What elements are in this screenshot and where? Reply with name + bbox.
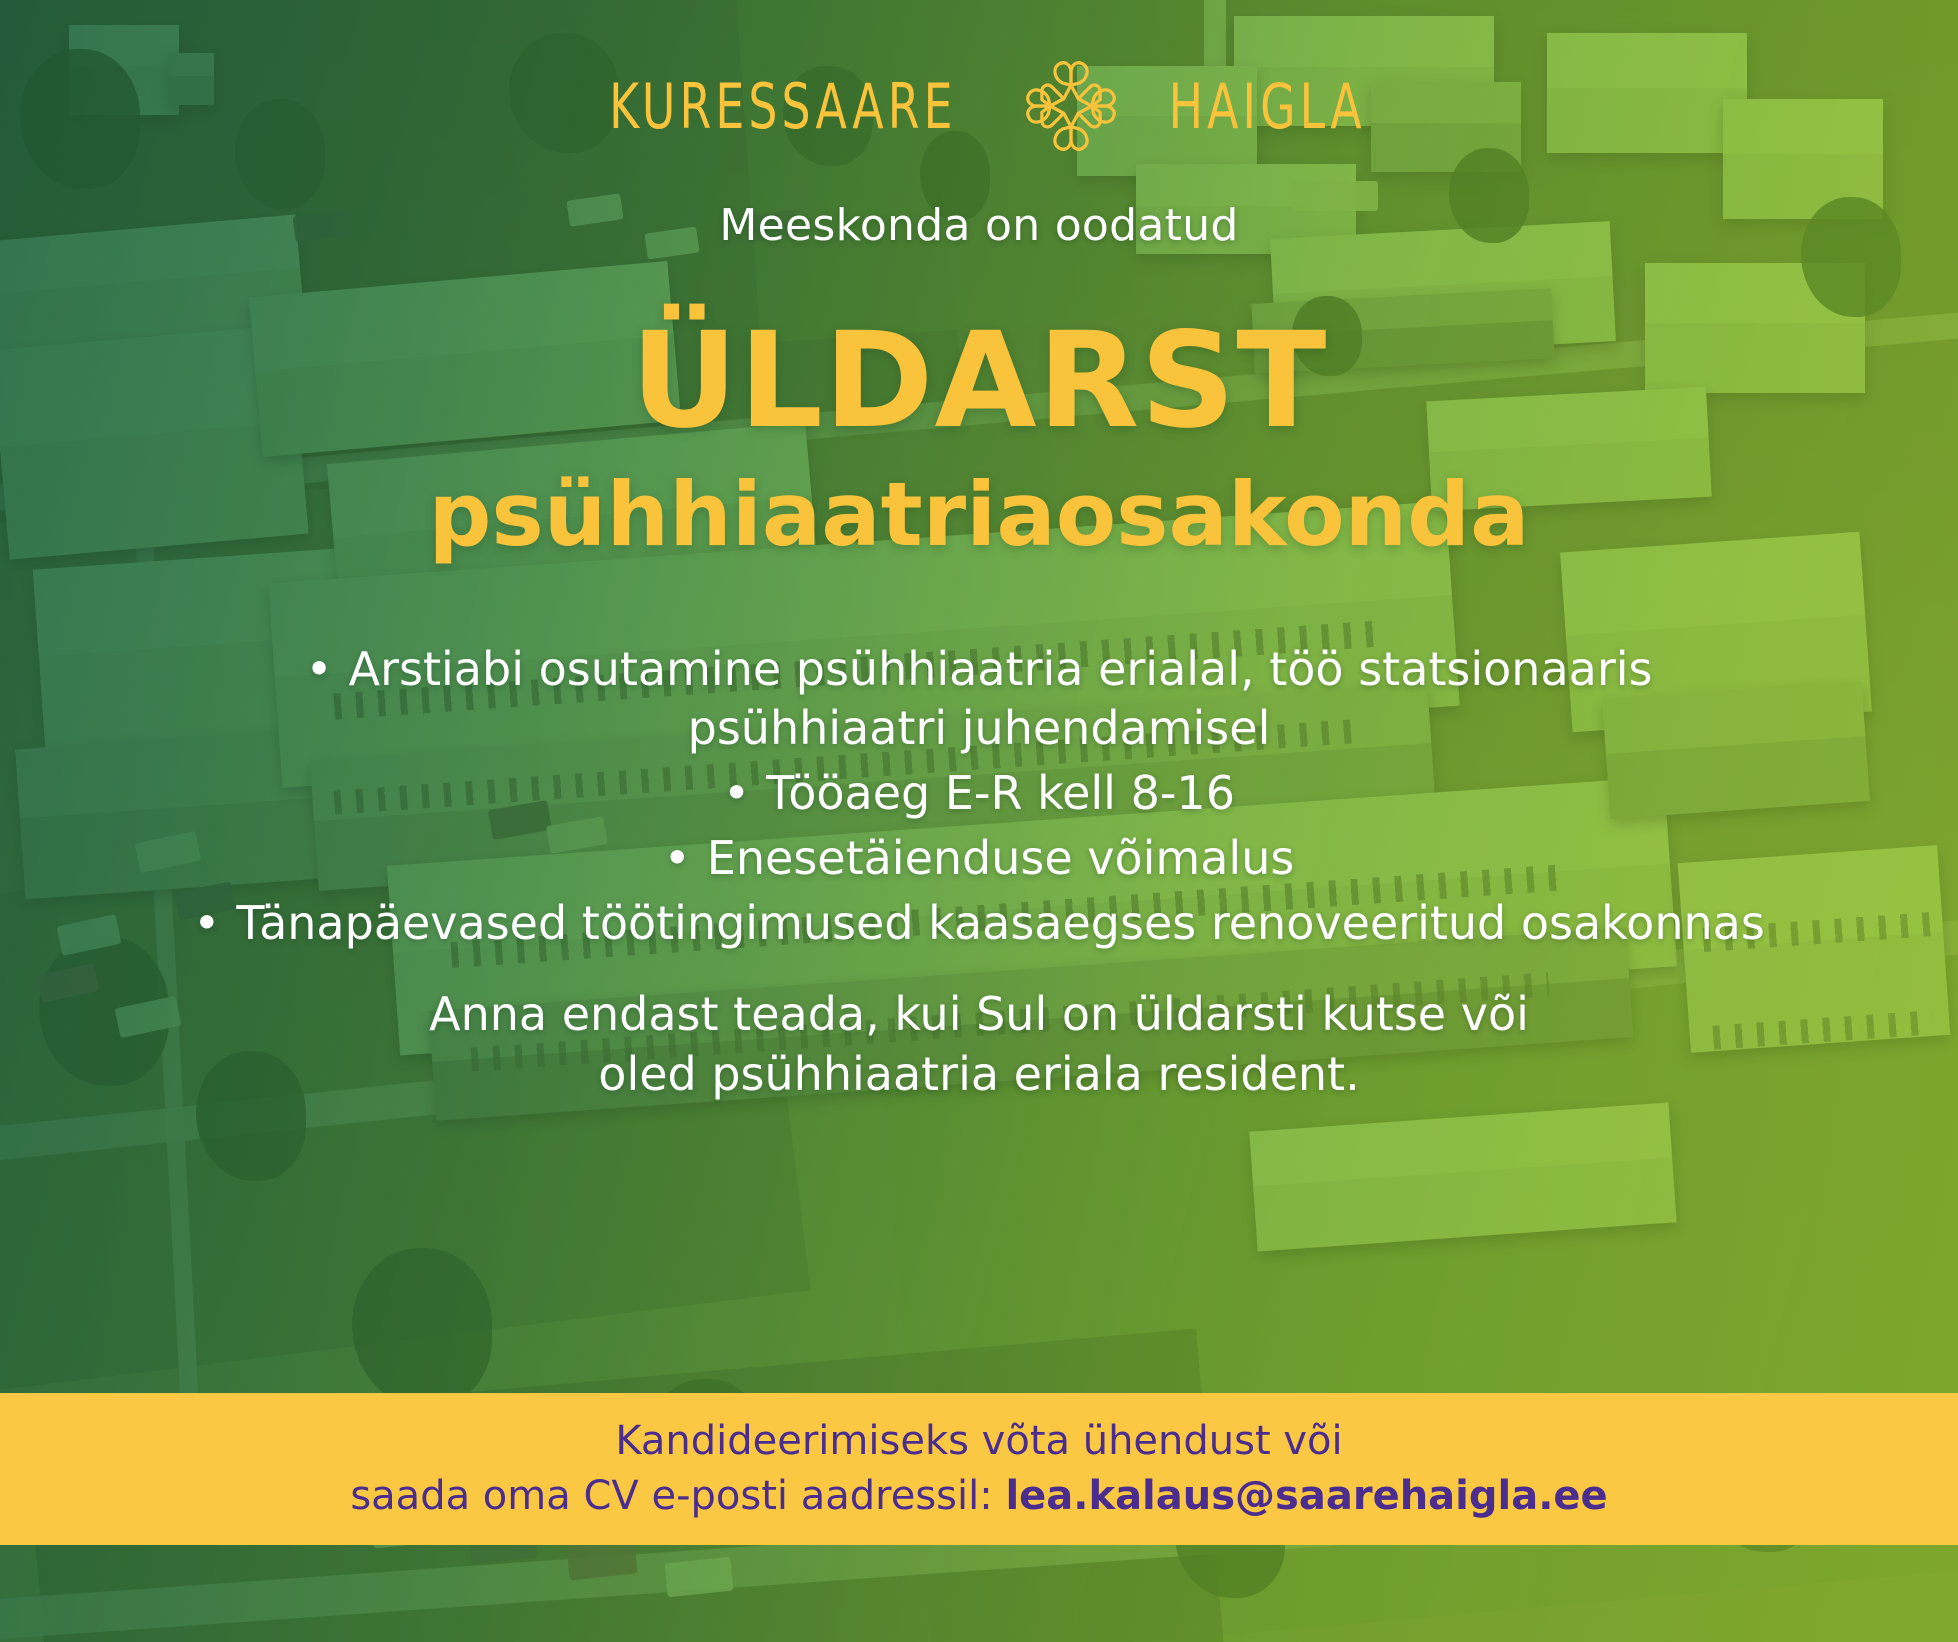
list-item-text: Enesetäienduse võimalus <box>707 831 1295 885</box>
list-item-text: Tänapäevased töötingimused kaasaegses re… <box>236 896 1764 950</box>
closing-line-2: oled psühhiaatria eriala resident. <box>0 1045 1958 1105</box>
contact-footer-bar: Kandideerimiseks võta ühendust või saada… <box>0 1393 1958 1545</box>
bullet-dot-icon: • <box>193 896 220 950</box>
brand-name-kuressaare: KURESSAARE <box>609 70 956 143</box>
brand-name-haigla: HAIGLA <box>1168 70 1365 143</box>
job-title: ÜLDARST <box>0 315 1958 447</box>
list-item: •Tööaeg E-R kell 8-16 <box>0 764 1958 823</box>
list-item: •Arstiabi osutamine psühhiaatria erialal… <box>0 640 1958 758</box>
footer-email-prefix: saada oma CV e-posti aadressil: <box>350 1473 1005 1519</box>
list-item: •Enesetäienduse võimalus <box>0 829 1958 888</box>
bullet-dot-icon: • <box>723 766 750 820</box>
contact-email-link[interactable]: lea.kalaus@saarehaigla.ee <box>1005 1473 1607 1519</box>
brand-logo-lockup: KURESSAARE <box>0 54 1958 158</box>
list-item: •Tänapäevased töötingimused kaasaegses r… <box>0 894 1958 953</box>
kicker-text: Meeskonda on oodatud <box>0 200 1958 251</box>
requirements-list: •Arstiabi osutamine psühhiaatria erialal… <box>0 640 1958 958</box>
list-item-text: Arstiabi osutamine psühhiaatria erialal,… <box>349 642 1653 696</box>
footer-line-2: saada oma CV e-posti aadressil: lea.kala… <box>350 1469 1607 1524</box>
job-advert-poster: KURESSAARE <box>0 0 1958 1642</box>
bullet-dot-icon: • <box>664 831 691 885</box>
footer-line-1: Kandideerimiseks võta ühendust või <box>615 1414 1342 1469</box>
closing-paragraph: Anna endast teada, kui Sul on üldarsti k… <box>0 985 1958 1105</box>
closing-line-1: Anna endast teada, kui Sul on üldarsti k… <box>0 985 1958 1045</box>
headline-block: Meeskonda on oodatud ÜLDARST psühhiaatri… <box>0 200 1958 561</box>
list-item-continuation: psühhiaatri juhendamisel <box>60 699 1898 758</box>
bullet-dot-icon: • <box>306 642 333 696</box>
list-item-text: Tööaeg E-R kell 8-16 <box>766 766 1235 820</box>
eight-point-star-ornament-icon <box>1019 54 1123 158</box>
job-department: psühhiaatriaosakonda <box>0 469 1958 561</box>
